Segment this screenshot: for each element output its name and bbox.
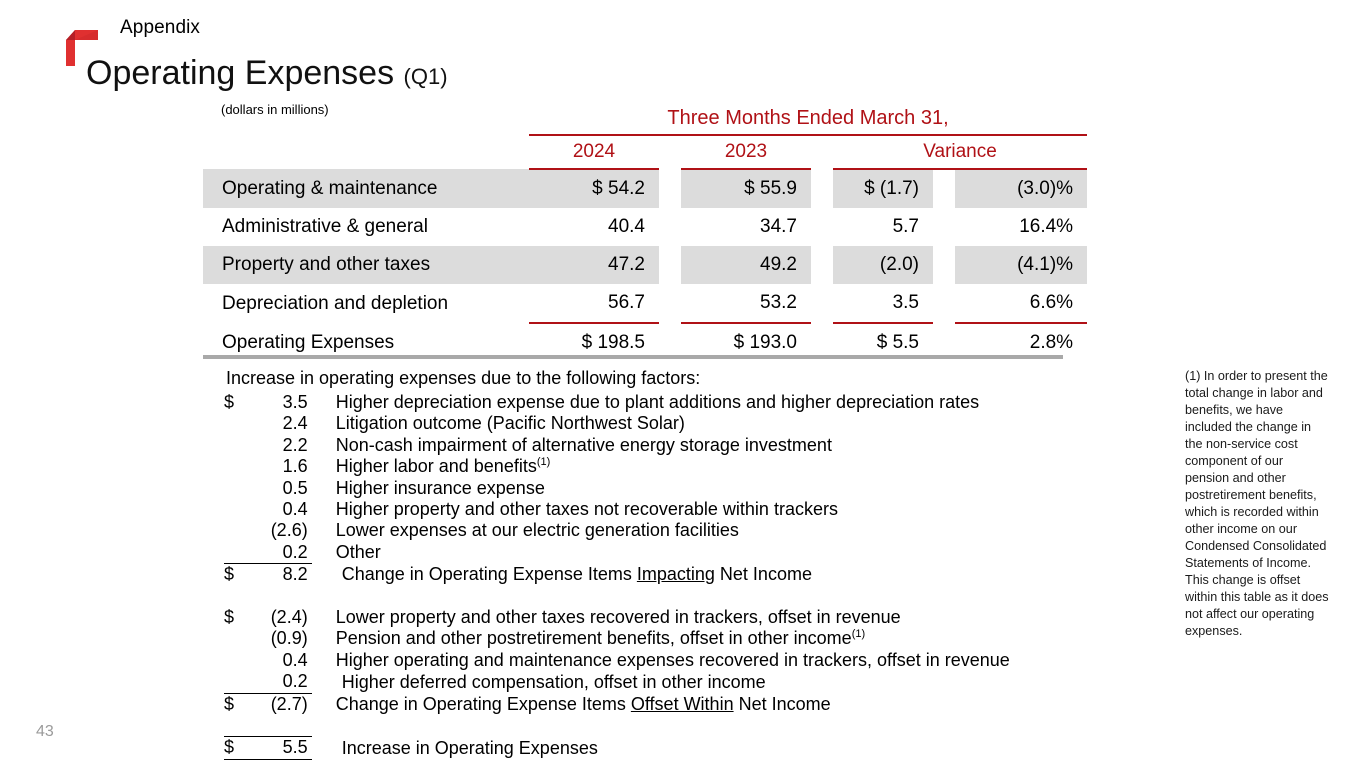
cell-2023: 34.7	[681, 208, 811, 246]
spacer-cell	[224, 586, 247, 607]
list-item: (2.6) Lower expenses at our electric gen…	[224, 520, 1124, 541]
list-item: 0.2 Other	[224, 542, 1124, 564]
page-title: Operating Expenses (Q1)	[86, 52, 448, 98]
spacer-cell	[811, 208, 833, 246]
amount: (2.6)	[247, 520, 312, 541]
currency-symbol: $	[224, 392, 247, 413]
spacer-cell	[659, 208, 681, 246]
amount: (2.7)	[247, 693, 312, 715]
cell-variance-amount: 3.5	[833, 284, 933, 323]
column-header-2024: 2024	[529, 135, 659, 169]
amount: 0.4	[247, 650, 312, 671]
spacer-cell	[933, 169, 955, 208]
spacer-cell	[659, 246, 681, 284]
description: Higher operating and maintenance expense…	[312, 650, 1124, 671]
appendix-eyebrow-label: Appendix	[120, 16, 200, 40]
spacer-cell	[933, 284, 955, 323]
currency-symbol: $	[224, 607, 247, 628]
page-title-quarter: (Q1)	[404, 64, 448, 89]
currency-symbol	[224, 413, 247, 434]
description: Change in Operating Expense Items Offset…	[312, 693, 1124, 715]
row-label: Property and other taxes	[203, 246, 529, 284]
footnote-text: (1) In order to present the total change…	[1185, 368, 1329, 640]
table-row: Property and other taxes 47.2 49.2 (2.0)…	[203, 246, 1087, 284]
description: Other	[312, 542, 1124, 564]
cell-variance-amount: 5.7	[833, 208, 933, 246]
spacer-cell	[312, 715, 1124, 737]
amount: 2.2	[247, 435, 312, 456]
table-row: Administrative & general 40.4 34.7 5.7 1…	[203, 208, 1087, 246]
currency-symbol	[224, 671, 247, 693]
amount: 3.5	[247, 392, 312, 413]
amount: 8.2	[247, 564, 312, 586]
list-item: $ 3.5 Higher depreciation expense due to…	[224, 392, 1124, 413]
description-suffix: Net Income	[734, 694, 831, 714]
list-item: (0.9) Pension and other postretirement b…	[224, 628, 1124, 649]
table-bottom-divider	[203, 355, 1063, 359]
description: Higher insurance expense	[312, 478, 1124, 499]
row-label: Depreciation and depletion	[203, 284, 529, 323]
description-prefix: Change in Operating Expense Items	[342, 564, 637, 584]
description-suffix: Net Income	[715, 564, 812, 584]
footnote-ref: (1)	[852, 628, 865, 640]
description: Lower expenses at our electric generatio…	[312, 520, 1124, 541]
cell-variance-percent: (3.0)%	[955, 169, 1087, 208]
description: Non-cash impairment of alternative energ…	[312, 435, 1124, 456]
cell-variance-percent: 16.4%	[955, 208, 1087, 246]
page-number: 43	[36, 723, 54, 741]
description-emphasis: Offset Within	[631, 694, 734, 714]
description-emphasis: Impacting	[637, 564, 715, 584]
amount: 0.4	[247, 499, 312, 520]
row-label: Operating & maintenance	[203, 169, 529, 208]
amount: 1.6	[247, 456, 312, 477]
cell-2024: 40.4	[529, 208, 659, 246]
currency-symbol	[224, 650, 247, 671]
spacer-cell	[247, 586, 312, 607]
list-item: 0.4 Higher operating and maintenance exp…	[224, 650, 1124, 671]
row-label: Administrative & general	[203, 208, 529, 246]
description-text: Pension and other postretirement benefit…	[336, 628, 852, 648]
spacer-cell	[247, 715, 312, 737]
cell-2023: 53.2	[681, 284, 811, 323]
amount: 0.2	[247, 671, 312, 693]
spacer-cell	[811, 169, 833, 208]
list-item: 2.4 Litigation outcome (Pacific Northwes…	[224, 413, 1124, 434]
cell-2023: $ 55.9	[681, 169, 811, 208]
subtotal-row-offset-within: $ (2.7) Change in Operating Expense Item…	[224, 693, 1124, 715]
table-span-header-row: Three Months Ended March 31,	[203, 103, 1087, 135]
cell-variance-amount: (2.0)	[833, 246, 933, 284]
currency-symbol: $	[224, 564, 247, 586]
table-row: Depreciation and depletion 56.7 53.2 3.5…	[203, 284, 1087, 323]
cell-2024: 47.2	[529, 246, 659, 284]
currency-symbol	[224, 542, 247, 564]
list-item: 2.2 Non-cash impairment of alternative e…	[224, 435, 1124, 456]
cell-variance-percent: (4.1)%	[955, 246, 1087, 284]
spacer-cell	[933, 246, 955, 284]
amount: (0.9)	[247, 628, 312, 649]
currency-symbol	[224, 499, 247, 520]
currency-symbol	[224, 628, 247, 649]
description-prefix: Change in Operating Expense Items	[336, 694, 631, 714]
spacer-cell	[659, 135, 681, 169]
description: Litigation outcome (Pacific Northwest So…	[312, 413, 1124, 434]
spacer-cell	[312, 586, 1124, 607]
description: Change in Operating Expense Items Impact…	[312, 564, 1124, 586]
description: Higher property and other taxes not reco…	[312, 499, 1124, 520]
table-row: Operating & maintenance $ 54.2 $ 55.9 $ …	[203, 169, 1087, 208]
cell-2024: 56.7	[529, 284, 659, 323]
spacer-cell	[203, 103, 529, 135]
description: Higher deferred compensation, offset in …	[312, 671, 1124, 693]
list-item: $ (2.4) Lower property and other taxes r…	[224, 607, 1124, 628]
currency-symbol: $	[224, 693, 247, 715]
list-spacer	[224, 715, 1124, 737]
list-item: 0.4 Higher property and other taxes not …	[224, 499, 1124, 520]
list-item: 0.5 Higher insurance expense	[224, 478, 1124, 499]
description: Higher depreciation expense due to plant…	[312, 392, 1124, 413]
column-header-2023: 2023	[681, 135, 811, 169]
amount: 2.4	[247, 413, 312, 434]
table-column-header-row: 2024 2023 Variance	[203, 135, 1087, 169]
spacer-cell	[933, 208, 955, 246]
amount: 5.5	[247, 737, 312, 759]
operating-expenses-table: Three Months Ended March 31, 2024 2023 V…	[203, 103, 1065, 362]
list-item: 1.6 Higher labor and benefits(1)	[224, 456, 1124, 477]
spacer-cell	[203, 135, 529, 169]
spacer-cell	[224, 715, 247, 737]
detail-list-intro: Increase in operating expenses due to th…	[226, 367, 700, 389]
description: Lower property and other taxes recovered…	[312, 607, 1124, 628]
description: Pension and other postretirement benefit…	[312, 628, 1124, 649]
cell-2023: 49.2	[681, 246, 811, 284]
spacer-cell	[811, 246, 833, 284]
footnote-ref: (1)	[537, 456, 550, 468]
expense-factor-list: $ 3.5 Higher depreciation expense due to…	[224, 392, 1124, 760]
cell-variance-percent: 6.6%	[955, 284, 1087, 323]
amount: 0.5	[247, 478, 312, 499]
cell-variance-amount: $ (1.7)	[833, 169, 933, 208]
description: Higher labor and benefits(1)	[312, 456, 1124, 477]
table-span-header: Three Months Ended March 31,	[529, 103, 1087, 135]
page-title-main: Operating Expenses	[86, 54, 394, 92]
amount: (2.4)	[247, 607, 312, 628]
spacer-cell	[811, 135, 833, 169]
list-spacer	[224, 586, 1124, 607]
spacer-cell	[811, 284, 833, 323]
column-header-variance: Variance	[833, 135, 1087, 169]
currency-symbol: $	[224, 737, 247, 759]
cell-2024: $ 54.2	[529, 169, 659, 208]
amount: 0.2	[247, 542, 312, 564]
spacer-cell	[659, 284, 681, 323]
subtotal-row-impacting: $ 8.2 Change in Operating Expense Items …	[224, 564, 1124, 586]
list-item: 0.2 Higher deferred compensation, offset…	[224, 671, 1124, 693]
currency-symbol	[224, 456, 247, 477]
description-text: Higher labor and benefits	[336, 456, 537, 476]
currency-symbol	[224, 435, 247, 456]
currency-symbol	[224, 520, 247, 541]
description: Increase in Operating Expenses	[312, 737, 1124, 759]
grand-total-row: $ 5.5 Increase in Operating Expenses	[224, 737, 1124, 759]
spacer-cell	[659, 169, 681, 208]
currency-symbol	[224, 478, 247, 499]
